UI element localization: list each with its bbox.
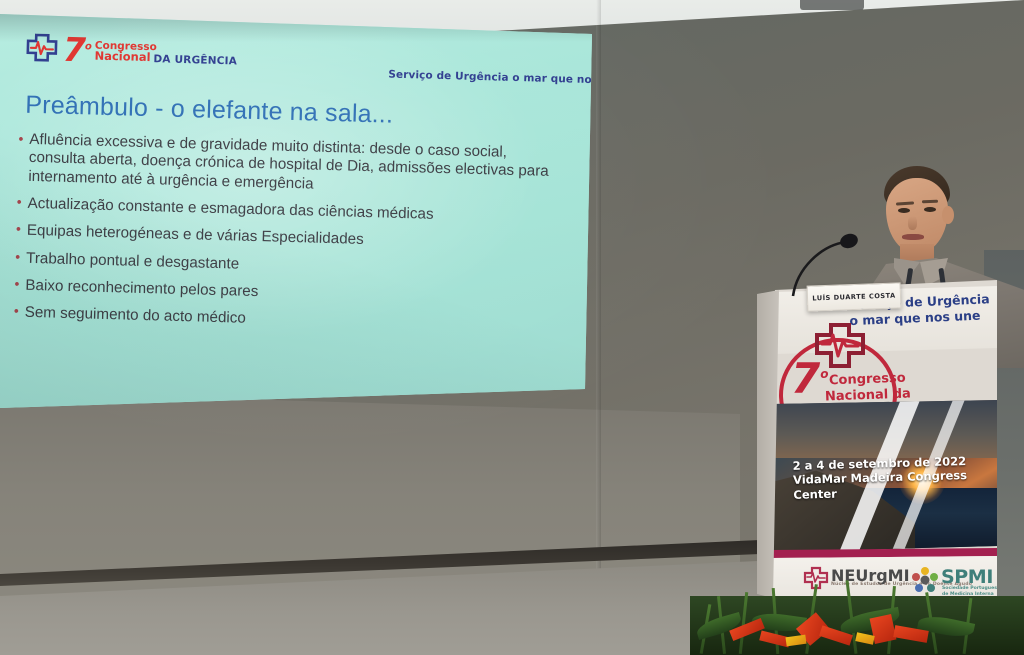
conference-photo-scene: 7o Congresso Nacional DA URGÊNCIA Serviç… (0, 0, 1024, 655)
logo-number: 7o (63, 36, 92, 64)
bullet-marker-icon: • (14, 303, 19, 321)
speaker-eyebrow (922, 200, 938, 204)
speaker-ear (942, 206, 954, 224)
podium-logo-number: 7o (791, 362, 828, 396)
bullet-marker-icon: • (16, 221, 21, 239)
slide: 7o Congresso Nacional DA URGÊNCIA Serviç… (0, 8, 592, 424)
bullet-marker-icon: • (14, 276, 19, 294)
bullet-marker-icon: • (15, 248, 20, 266)
bullet-text: Afluência excessiva e de gravidade muito… (28, 131, 563, 201)
speaker-name-card: LUÍS DUARTE COSTA (807, 282, 902, 311)
podium: Serviço de Urgência o mar que nos une 7o… (757, 268, 997, 608)
ceiling-vent-icon (800, 0, 864, 10)
speaker-eye (898, 208, 910, 213)
bullet-item: • Sem seguimento do acto médico (14, 303, 559, 337)
podium-date-line2: VidaMar Madeira Congress Center (793, 468, 999, 502)
bullet-item: • Afluência excessiva e de gravidade mui… (17, 131, 563, 201)
slide-title: Preâmbulo - o elefante na sala... (25, 91, 394, 130)
podium-date-text: 2 a 4 de setembro de 2022 VidaMar Madeir… (792, 453, 999, 502)
podium-front-panel: Serviço de Urgência o mar que nos une 7o… (757, 268, 997, 608)
speaker-name-text: LUÍS DUARTE COSTA (812, 292, 896, 303)
wall-seam (596, 0, 601, 610)
speaker-nose (908, 216, 917, 230)
bullet-text: Sem seguimento do acto médico (24, 303, 558, 337)
medical-cross-heartbeat-icon (25, 33, 60, 65)
projection-screen: 7o Congresso Nacional DA URGÊNCIA Serviç… (0, 8, 592, 408)
bullet-marker-icon: • (18, 131, 23, 149)
slide-header-text: Serviço de Urgência o mar que nos une (388, 69, 624, 87)
podium-landscape-photo: 2 a 4 de setembro de 2022 VidaMar Madeir… (771, 400, 999, 552)
floral-arrangement (690, 578, 1024, 655)
slide-bullet-list: • Afluência excessiva e de gravidade mui… (13, 131, 563, 345)
speaker-eye (924, 207, 936, 212)
logo-line-urgencia: DA URGÊNCIA (153, 54, 237, 67)
logo-line-nacional: Nacional (94, 51, 150, 64)
podium-logo-congresso: Congresso (829, 371, 906, 389)
congress-logo: 7o Congresso Nacional DA URGÊNCIA (25, 33, 238, 70)
logo-wordmark: Congresso Nacional DA URGÊNCIA (94, 37, 237, 66)
bullet-marker-icon: • (17, 194, 22, 212)
